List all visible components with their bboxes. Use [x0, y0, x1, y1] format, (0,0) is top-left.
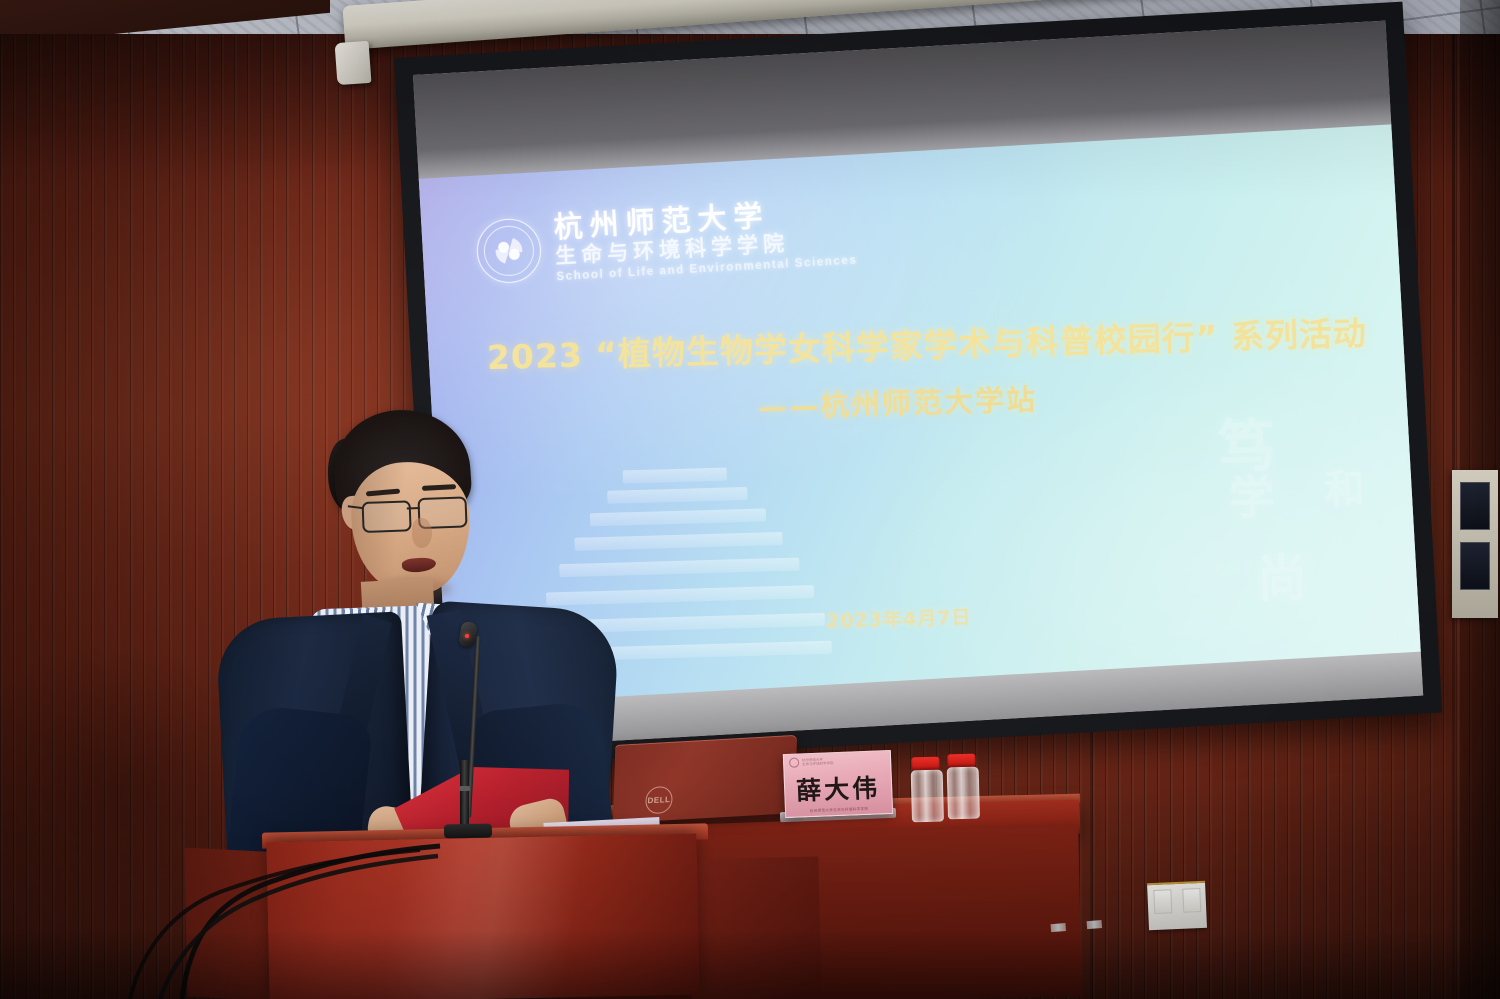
watermark-char: 尚 [1256, 538, 1308, 611]
lecture-hall-photo: 杭州师范大学 生命与环境科学学院 School of Life and Envi… [0, 0, 1500, 999]
slide-title-sub: ——杭州师范大学站 [757, 377, 1037, 427]
lens-left [362, 500, 412, 533]
dell-logo-icon: DELL [645, 786, 673, 815]
watermark-char: 学 [1228, 461, 1276, 528]
calligraphy-watermark: 笃 学 和 尚 [1204, 395, 1401, 650]
water-bottle[interactable] [910, 757, 942, 823]
watermark-char: 和 [1324, 456, 1366, 515]
placard-org-line2: 生命与环境科学学院 [802, 761, 834, 766]
bottle-body [911, 770, 944, 823]
switch-button[interactable] [1153, 889, 1172, 914]
av-port-icon [1460, 482, 1490, 530]
switch-button[interactable] [1182, 888, 1201, 913]
wall-light-switch[interactable] [1147, 881, 1207, 930]
floor-shadow [0, 930, 1500, 999]
microphone-lower-stem [460, 760, 469, 832]
roller-end-cap [335, 41, 372, 85]
av-port-icon [1460, 542, 1490, 590]
bottle-body [947, 767, 980, 820]
name-placard: 杭州师范大学 生命与环境科学学院 薛大伟 杭州师范大学生命与环境科学学院 [783, 750, 893, 818]
slide-date: 2023年4月7日 [826, 603, 972, 634]
microphone-joint-ring [459, 786, 470, 791]
wall-av-panel[interactable] [1452, 470, 1498, 618]
bottle-cap [911, 757, 939, 771]
placard-org-block: 杭州师范大学 生命与环境科学学院 [802, 757, 834, 767]
dell-laptop[interactable]: DELL [613, 735, 797, 823]
bottle-cap [947, 754, 975, 768]
university-seal-icon [475, 217, 542, 284]
microphone-led-indicator [465, 634, 469, 638]
placard-header: 杭州师范大学 生命与环境科学学院 [789, 756, 834, 768]
water-bottle[interactable] [946, 754, 978, 820]
glasses-bridge [407, 507, 420, 510]
nose [412, 518, 432, 548]
bottle-neck [1087, 920, 1103, 929]
presenter [226, 410, 606, 880]
placard-seal-icon [789, 757, 799, 767]
placard-name-text: 薛大伟 [785, 768, 892, 808]
